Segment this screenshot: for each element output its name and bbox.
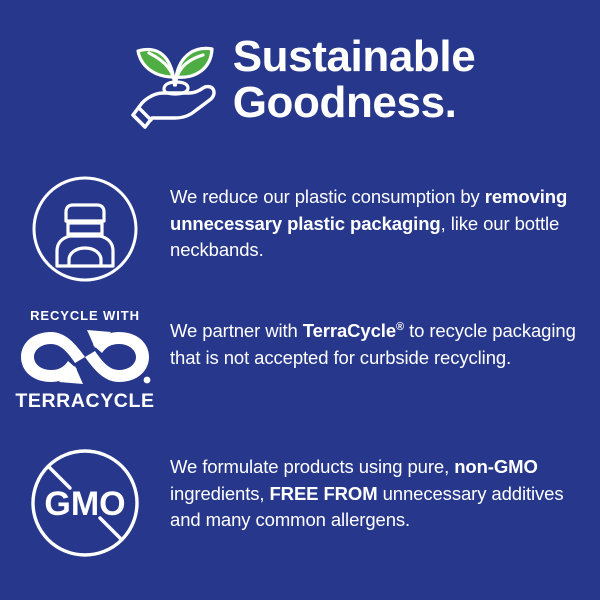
header: Sustainable Goodness. — [0, 22, 600, 140]
feature-row-gmo: GMO We formulate products using pure, no… — [0, 442, 600, 562]
page-title: Sustainable Goodness. — [233, 34, 476, 128]
sustainable-goodness-poster: Sustainable Goodness. We reduce our — [0, 0, 600, 600]
feature-row-plastic: We reduce our plastic consumption by rem… — [0, 172, 600, 284]
no-gmo-icon: GMO — [26, 444, 144, 562]
text-part-bold: non-GMO — [454, 456, 538, 477]
feature-row-terracycle: RECYCLE WITH TERRACYCLE — [0, 306, 600, 413]
terracycle-top-label: RECYCLE WITH — [30, 308, 140, 323]
feature-text-plastic: We reduce our plastic consumption by rem… — [170, 172, 600, 264]
infinity-arrows-icon — [13, 326, 157, 388]
feature-icon-container: RECYCLE WITH TERRACYCLE — [0, 306, 170, 413]
feature-icon-container: GMO — [0, 442, 170, 562]
bottle-neckband-icon — [30, 174, 140, 284]
hand-holding-sprout-icon — [125, 31, 225, 131]
text-part: ingredients, — [170, 483, 269, 504]
feature-text-terracycle: We partner with TerraCycle® to recycle p… — [170, 306, 600, 371]
feature-text-gmo: We formulate products using pure, non-GM… — [170, 442, 600, 534]
text-part-bold: FREE FROM — [269, 483, 377, 504]
text-part: We partner with — [170, 320, 303, 341]
terracycle-bottom-label: TERRACYCLE — [15, 390, 154, 413]
text-part-bold: TerraCycle — [303, 320, 396, 341]
no-gmo-label: GMO — [44, 485, 125, 523]
terracycle-logo-icon: RECYCLE WITH TERRACYCLE — [10, 308, 160, 413]
text-part: We reduce our plastic consumption by — [170, 186, 485, 207]
feature-icon-container — [0, 172, 170, 284]
registered-mark: ® — [396, 321, 404, 333]
text-part: We formulate products using pure, — [170, 456, 454, 477]
